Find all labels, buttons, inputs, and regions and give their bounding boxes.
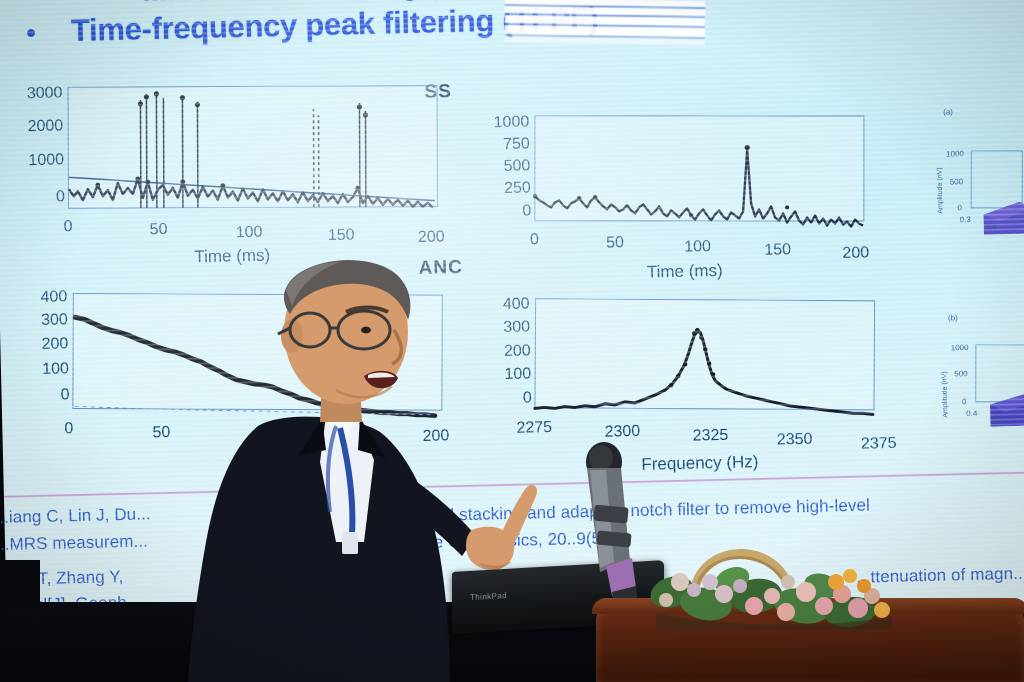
mini-a-ytick-0: 0: [957, 203, 962, 212]
ytick-ancd-0: 0: [0, 386, 70, 406]
mini-b-ytick-0: 0: [962, 397, 967, 406]
mini-b-xtick-0: 0.4: [966, 409, 977, 418]
trace-anc-time: [533, 111, 867, 227]
trace-spectrum: [534, 295, 879, 415]
chart-ss-time: SS 3000 2000 1000 0: [0, 75, 459, 276]
mini-b-tag: (b): [948, 313, 958, 322]
xtick-spec-2: 2325: [693, 427, 729, 446]
ytick-anct-1: 250: [465, 179, 531, 199]
xtick-ancd-0: 0: [64, 420, 73, 438]
xtick-ss-4: 200: [418, 228, 445, 247]
xtick-anct-2: 100: [684, 238, 711, 257]
xaxis-label-anct: Time (ms): [647, 261, 723, 283]
xtick-anct-4: 200: [842, 244, 869, 263]
xtick-ss-1: 50: [149, 221, 167, 239]
xaxis-label-spec: Frequency (Hz): [641, 452, 759, 475]
mini-b-ylabel: Amplitude (nV): [941, 371, 949, 417]
ytick-ss-1: 1000: [0, 151, 64, 171]
bullet-point-icon: [27, 29, 35, 37]
mini-a-ytick-2: 1000: [946, 149, 964, 158]
ytick-ss-3: 3000: [0, 84, 63, 104]
xtick-ss-2: 100: [236, 224, 263, 243]
ytick-ancd-1: 100: [0, 360, 69, 380]
xtick-spec-4: 2375: [861, 435, 897, 454]
xtick-spec-1: 2300: [604, 423, 640, 442]
mini-b-ytick-2: 1000: [951, 343, 969, 352]
xtick-anct-1: 50: [606, 234, 624, 252]
mini-a-surface: [973, 187, 1024, 235]
ytick-ancd-3: 300: [0, 311, 68, 331]
screenshot-root: ...ive notch filtering (ANF) Time-freque…: [0, 0, 1024, 682]
xtick-anct-3: 150: [764, 241, 791, 260]
ytick-ss-2: 2000: [0, 117, 63, 137]
xtick-ss-3: 150: [328, 227, 355, 246]
mini-a-tag: (a): [943, 107, 953, 116]
xtick-ss-0: 0: [63, 218, 72, 236]
ytick-anct-2: 500: [464, 157, 530, 177]
mini-a-xtick-0: 0.3: [960, 215, 971, 224]
mini-a-xtick-1: 0.4: [986, 222, 997, 231]
xtick-spec-3: 2350: [777, 431, 813, 450]
mini-b-xtick-1: 0.5: [992, 416, 1003, 425]
trace-ss: [66, 82, 441, 215]
chart-mini-surface-a: (a) Amplitude (nV) 1000 500 0 0.3 0.4: [925, 106, 1024, 238]
chart-mini-surface-b: (b) Amplitude (nV) 1000 500 0 0.4 0.5: [930, 316, 1024, 444]
ytick-ancd-2: 200: [0, 335, 69, 355]
ytick-anct-0: 0: [465, 202, 531, 222]
ytick-anct-4: 1000: [463, 113, 529, 133]
reference-1-line2: ...MRS measurem...: [0, 531, 148, 555]
xtick-anct-0: 0: [530, 231, 539, 249]
ytick-anct-3: 750: [464, 135, 530, 155]
mini-b-ytick-1: 500: [954, 369, 968, 378]
mini-a-ylabel: Amplitude (nV): [936, 167, 944, 213]
mini-a-ytick-1: 500: [950, 177, 964, 186]
ytick-ancd-4: 400: [0, 288, 67, 308]
reference-1-line1: ...iang C, Lin J, Du...: [0, 504, 151, 528]
flower-basket: [636, 520, 906, 630]
ytick-ss-0: 0: [0, 188, 65, 208]
